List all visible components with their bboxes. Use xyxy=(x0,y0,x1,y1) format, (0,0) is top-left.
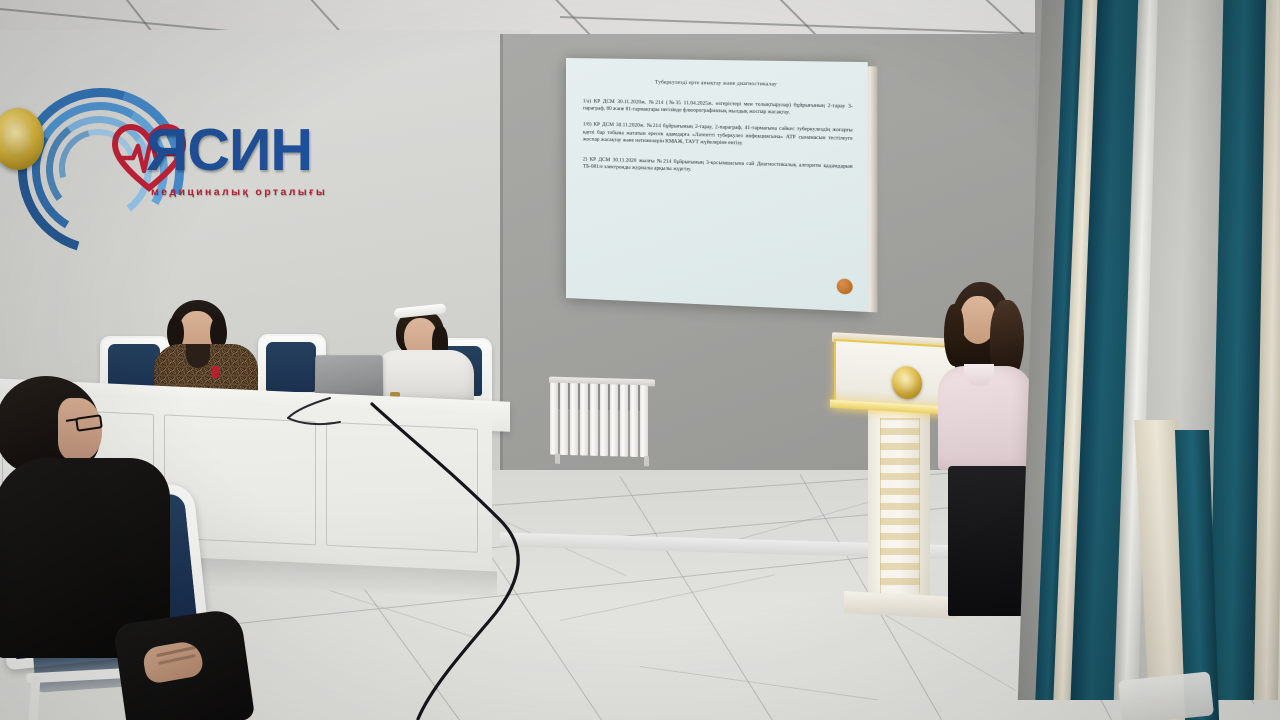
conference-room-photo: ЯСИН медициналық орталығы Туберкулезді е… xyxy=(0,0,1280,720)
photo-vignette xyxy=(0,0,1280,720)
